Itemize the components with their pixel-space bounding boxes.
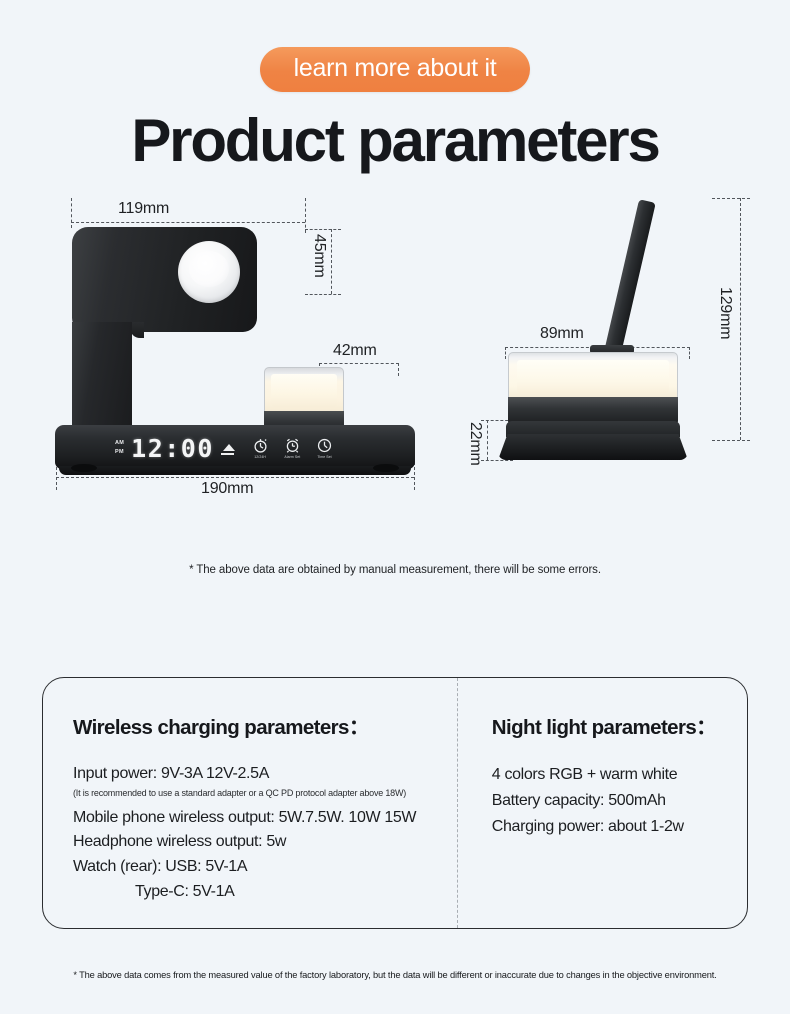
spec-colors: 4 colors RGB + warm white [492,762,747,788]
guide-22-v [487,420,488,460]
foot-pad-left [71,464,97,472]
clock-display: AM PM 12:00 12/24H [115,430,405,466]
caption-time-set: Time Set [317,455,331,459]
spec-battery-capacity: Battery capacity: 500mAh [492,788,747,814]
guide-42-r [398,363,399,376]
stopwatch-icon [252,437,269,454]
dim-height-watch: 45mm [310,234,328,278]
button-alarm-set[interactable]: Alarm Set [284,437,301,459]
dim-height-base: 22mm [466,422,484,466]
spec-watch-usb: Watch (rear): USB: 5V-1A [73,855,457,880]
spec-watch-typec: Type-C: 5V-1A [73,880,457,905]
guide-42 [319,363,399,364]
footer-note: * The above data comes from the measured… [0,970,790,980]
alarm-clock-icon [284,437,301,454]
lamp-glass-side [508,352,678,400]
dim-height-total: 129mm [716,287,734,339]
button-12-24h[interactable]: 12/24H [252,437,269,459]
stand-notch [130,322,144,338]
dim-width-front: 119mm [118,200,169,218]
guide-width119 [71,222,305,223]
guide-45-v [331,229,332,294]
spec-phone-output: Mobile phone wireless output: 5W.7.5W. 1… [73,806,457,831]
spec-input-power-note: (It is recommended to use a standard ada… [73,788,457,799]
clock-button-row: 12/24H Alarm Set [252,437,333,459]
wireless-charging-heading: Wireless charging parameters： [73,710,457,740]
base-body-side [498,434,688,460]
page-title: Product parameters [0,109,790,172]
guide-190 [56,477,414,478]
dim-width-lamp: 42mm [333,342,377,360]
time-set-icon [316,437,333,454]
product-side-view [498,197,713,477]
dim-width-total: 190mm [201,480,253,498]
base-side-view [498,421,688,465]
guide-left-top-v [71,198,72,228]
watch-charging-puck [178,241,240,303]
pm-label: PM [115,450,124,456]
clock-time: 12:00 [131,436,214,461]
product-diagram: 119mm 45mm 42mm 190mm AM PM 12:00 [0,192,790,562]
badge-row: learn more about it [0,0,790,92]
specifications-panel: Wireless charging parameters： Input powe… [42,677,748,929]
spec-charging-power: Charging power: about 1-2w [492,814,747,840]
wireless-charging-column: Wireless charging parameters： Input powe… [43,678,457,928]
caption-alarm-set: Alarm Set [284,455,300,459]
brightness-indicator-icon [221,442,235,455]
base-foot-front [59,466,411,475]
night-light-column: Night light parameters： 4 colors RGB + w… [457,678,747,928]
guide-129-top [712,198,750,199]
phone-stand-arm [603,199,656,359]
base-front-view: AM PM 12:00 12/24H [55,425,415,477]
spec-headphone-output: Headphone wireless output: 5w [73,830,457,855]
guide-129-bottom [712,440,750,441]
spec-input-power: Input power: 9V-3A 12V-2.5A [73,762,457,787]
ampm-indicator: AM PM [115,441,124,455]
am-label: AM [115,441,124,447]
learn-more-badge[interactable]: learn more about it [260,47,531,92]
measurement-note: * The above data are obtained by manual … [0,564,790,576]
night-light-heading: Night light parameters： [492,710,747,740]
button-time-set[interactable]: Time Set [316,437,333,459]
guide-129-v [740,198,741,440]
caption-12-24h: 12/24H [255,455,267,459]
lamp-glass-front [264,367,344,413]
